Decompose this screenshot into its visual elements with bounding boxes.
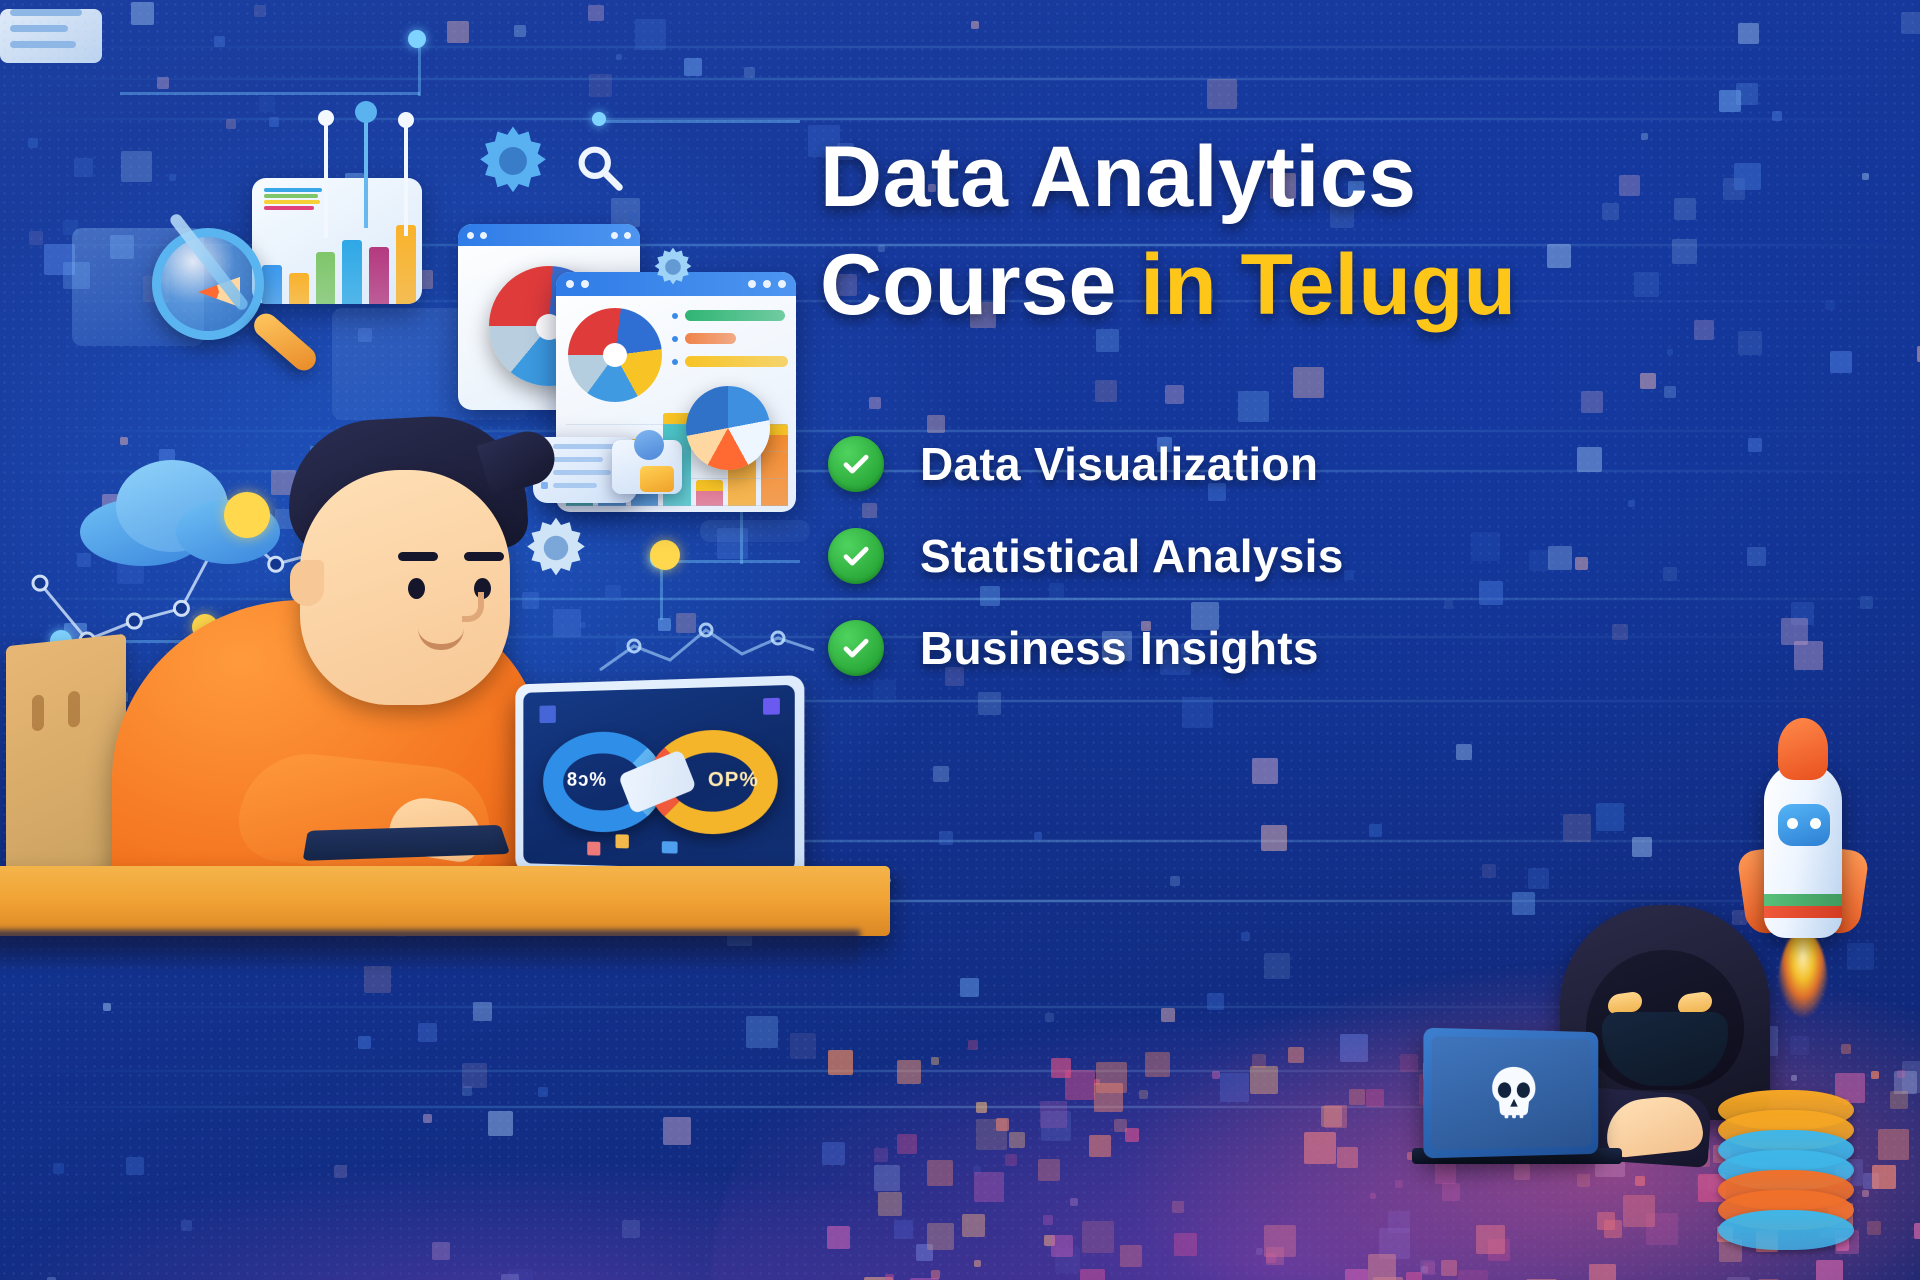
pixel-square	[629, 212, 638, 221]
pixel-square	[1719, 90, 1741, 112]
feature-item-1: Statistical Analysis	[828, 510, 1344, 602]
bar	[369, 247, 389, 304]
pixel-square	[589, 74, 612, 97]
pixel-square	[1664, 386, 1676, 398]
scanline	[0, 78, 1920, 80]
pixel-square	[1830, 351, 1852, 373]
pixel-square	[1860, 596, 1873, 609]
headline-line-1: Data Analytics	[820, 134, 1840, 220]
network-node	[592, 112, 606, 126]
bar	[342, 240, 362, 304]
trend-point	[174, 601, 188, 615]
infinity-left-value: 8ɔ%	[567, 769, 607, 792]
pixel-square	[1628, 500, 1635, 507]
pie-chart-icon	[686, 386, 770, 470]
pixel-square	[1663, 567, 1677, 581]
student-eye	[408, 578, 425, 599]
pixel-square	[1252, 758, 1278, 784]
trend-point	[33, 576, 47, 590]
bar	[289, 273, 309, 304]
feature-item-0: Data Visualization	[828, 418, 1344, 510]
pixel-square	[28, 138, 38, 148]
user-avatar-icon	[634, 430, 664, 460]
trend-point	[127, 614, 141, 628]
network-link	[120, 92, 420, 95]
pixel-square	[1207, 79, 1237, 109]
student-brow	[398, 552, 438, 561]
pixel-square	[1165, 385, 1184, 404]
pixel-square	[588, 5, 604, 21]
magnifier-pie-icon	[152, 228, 264, 340]
pixel-square	[254, 5, 266, 17]
bullet-dot	[672, 313, 678, 319]
pixel-square	[131, 2, 154, 25]
pixel-square	[1182, 697, 1213, 728]
window-dot	[581, 280, 589, 288]
rocket-stripe	[1764, 894, 1842, 906]
pixel-square	[744, 67, 755, 78]
network-link	[418, 40, 421, 96]
window-dot	[566, 280, 574, 288]
pixel-square	[29, 231, 43, 245]
pixel-square	[1456, 744, 1472, 760]
window-dot	[611, 232, 618, 239]
pixel-square	[605, 585, 621, 601]
pixel-square	[1529, 550, 1550, 571]
pixel-square	[869, 397, 881, 409]
pixel-square	[684, 58, 702, 76]
pixel-square	[978, 692, 1001, 715]
progress-bar	[685, 310, 785, 321]
hacker-laptop-screen	[1432, 1036, 1591, 1150]
chair-icon	[6, 634, 126, 897]
check-circle-icon	[828, 528, 884, 584]
accent-dot	[224, 492, 270, 538]
hacker-laptop[interactable]	[1423, 1028, 1598, 1159]
pixel-square	[121, 151, 152, 182]
headline-line-2: Course in Telugu	[820, 242, 1840, 328]
pixel-square	[447, 21, 469, 43]
rocket-icon	[1744, 718, 1862, 966]
bullet-dot	[672, 336, 678, 342]
gear-icon	[520, 512, 592, 584]
pixel-square	[259, 96, 275, 112]
bar	[696, 480, 723, 506]
pixel-square	[1738, 23, 1759, 44]
pixel-square	[553, 609, 581, 637]
feature-label: Statistical Analysis	[920, 529, 1344, 583]
window-dot	[624, 232, 631, 239]
network-link	[600, 120, 800, 123]
pixel-square	[522, 592, 539, 609]
pixel-square	[971, 21, 979, 29]
feature-label: Data Visualization	[920, 437, 1318, 491]
pixel-square	[1612, 624, 1628, 640]
scanline	[0, 46, 1920, 48]
pixel-square	[1548, 546, 1572, 570]
pixel-square	[1095, 380, 1117, 402]
pixel-square	[1794, 641, 1823, 670]
window-titlebar	[458, 224, 640, 246]
pixel-square	[1901, 12, 1920, 34]
bar	[262, 265, 282, 304]
pixel-square	[514, 25, 526, 37]
search-icon[interactable]	[572, 140, 628, 196]
progress-bar	[685, 333, 736, 344]
pixel-square	[1034, 832, 1042, 840]
rocket-nose	[1778, 718, 1828, 780]
headline-course-word: Course	[820, 237, 1116, 333]
pixel-square	[1444, 600, 1453, 609]
pixel-square	[1471, 532, 1500, 561]
headline-highlight-word: in Telugu	[1140, 237, 1516, 333]
rocket-stripe	[1764, 906, 1842, 918]
student-ear	[290, 560, 324, 606]
folder-icon	[640, 466, 674, 492]
pixel-square	[1293, 367, 1324, 398]
window-controls[interactable]	[748, 280, 786, 288]
laptop-screen[interactable]: 8ɔ% OP%	[515, 675, 804, 881]
pixel-square	[226, 119, 236, 129]
scanline	[0, 118, 1920, 120]
pixel-square	[616, 54, 622, 60]
pixel-square	[169, 174, 176, 181]
network-node	[408, 30, 426, 48]
window-dot	[480, 232, 487, 239]
progress-bar	[685, 356, 788, 367]
window-dot	[763, 280, 771, 288]
pixel-square	[1748, 438, 1762, 452]
pixel-square	[1344, 570, 1354, 580]
database-stack-icon	[1718, 1090, 1854, 1240]
ghost-bar	[700, 520, 810, 542]
pixel-square	[1862, 173, 1869, 180]
pixel-square	[1577, 447, 1602, 472]
infinity-right-value: OP%	[708, 769, 759, 793]
window-dot	[467, 232, 474, 239]
chart-legend	[264, 188, 324, 212]
feature-label: Business Insights	[920, 621, 1319, 675]
network-node-accent	[650, 540, 680, 570]
window-dot	[748, 280, 756, 288]
pixel-square	[1667, 349, 1673, 355]
pixel-square	[1747, 547, 1766, 566]
rocket-flame	[1778, 930, 1828, 1050]
skull-icon	[1484, 1062, 1544, 1125]
bar	[316, 252, 336, 304]
check-circle-icon	[828, 436, 884, 492]
window-controls[interactable]	[611, 232, 631, 239]
headline-block: Data Analytics Course in Telugu	[820, 134, 1840, 328]
pixel-square	[120, 437, 128, 445]
rocket-window	[1778, 804, 1830, 846]
laptop-display: 8ɔ% OP%	[523, 685, 794, 871]
student-brow	[464, 552, 504, 561]
pixel-square	[214, 36, 225, 47]
pixel-square	[933, 766, 949, 782]
poster-canvas: Data Analytics Course in Telugu Data Vis…	[0, 0, 1920, 1280]
pixel-square	[1640, 373, 1656, 389]
database-ring	[1718, 1210, 1854, 1250]
pixel-square	[1738, 331, 1762, 355]
desk-surface	[0, 866, 890, 936]
window-dot	[778, 280, 786, 288]
desk-shadow	[0, 930, 860, 972]
pixel-square	[1772, 111, 1782, 121]
progress-bar-list	[672, 310, 788, 379]
bullet-dot	[672, 359, 678, 365]
bar-cap	[696, 480, 723, 491]
pixel-square	[157, 77, 169, 89]
progress-row	[672, 333, 788, 344]
progress-row	[672, 356, 788, 367]
gear-icon	[472, 120, 554, 202]
network-link	[660, 560, 800, 563]
pixel-square	[1479, 581, 1503, 605]
gear-icon	[650, 244, 696, 290]
check-circle-icon	[828, 620, 884, 676]
feature-list: Data VisualizationStatistical AnalysisBu…	[828, 418, 1344, 694]
pixel-square	[635, 19, 666, 50]
progress-row	[672, 310, 788, 321]
pixel-square	[269, 117, 279, 127]
pixel-square	[1575, 557, 1588, 570]
feature-item-2: Business Insights	[828, 602, 1344, 694]
pixel-square	[74, 158, 93, 177]
pixel-square	[1581, 391, 1603, 413]
pixel-square	[939, 831, 953, 845]
